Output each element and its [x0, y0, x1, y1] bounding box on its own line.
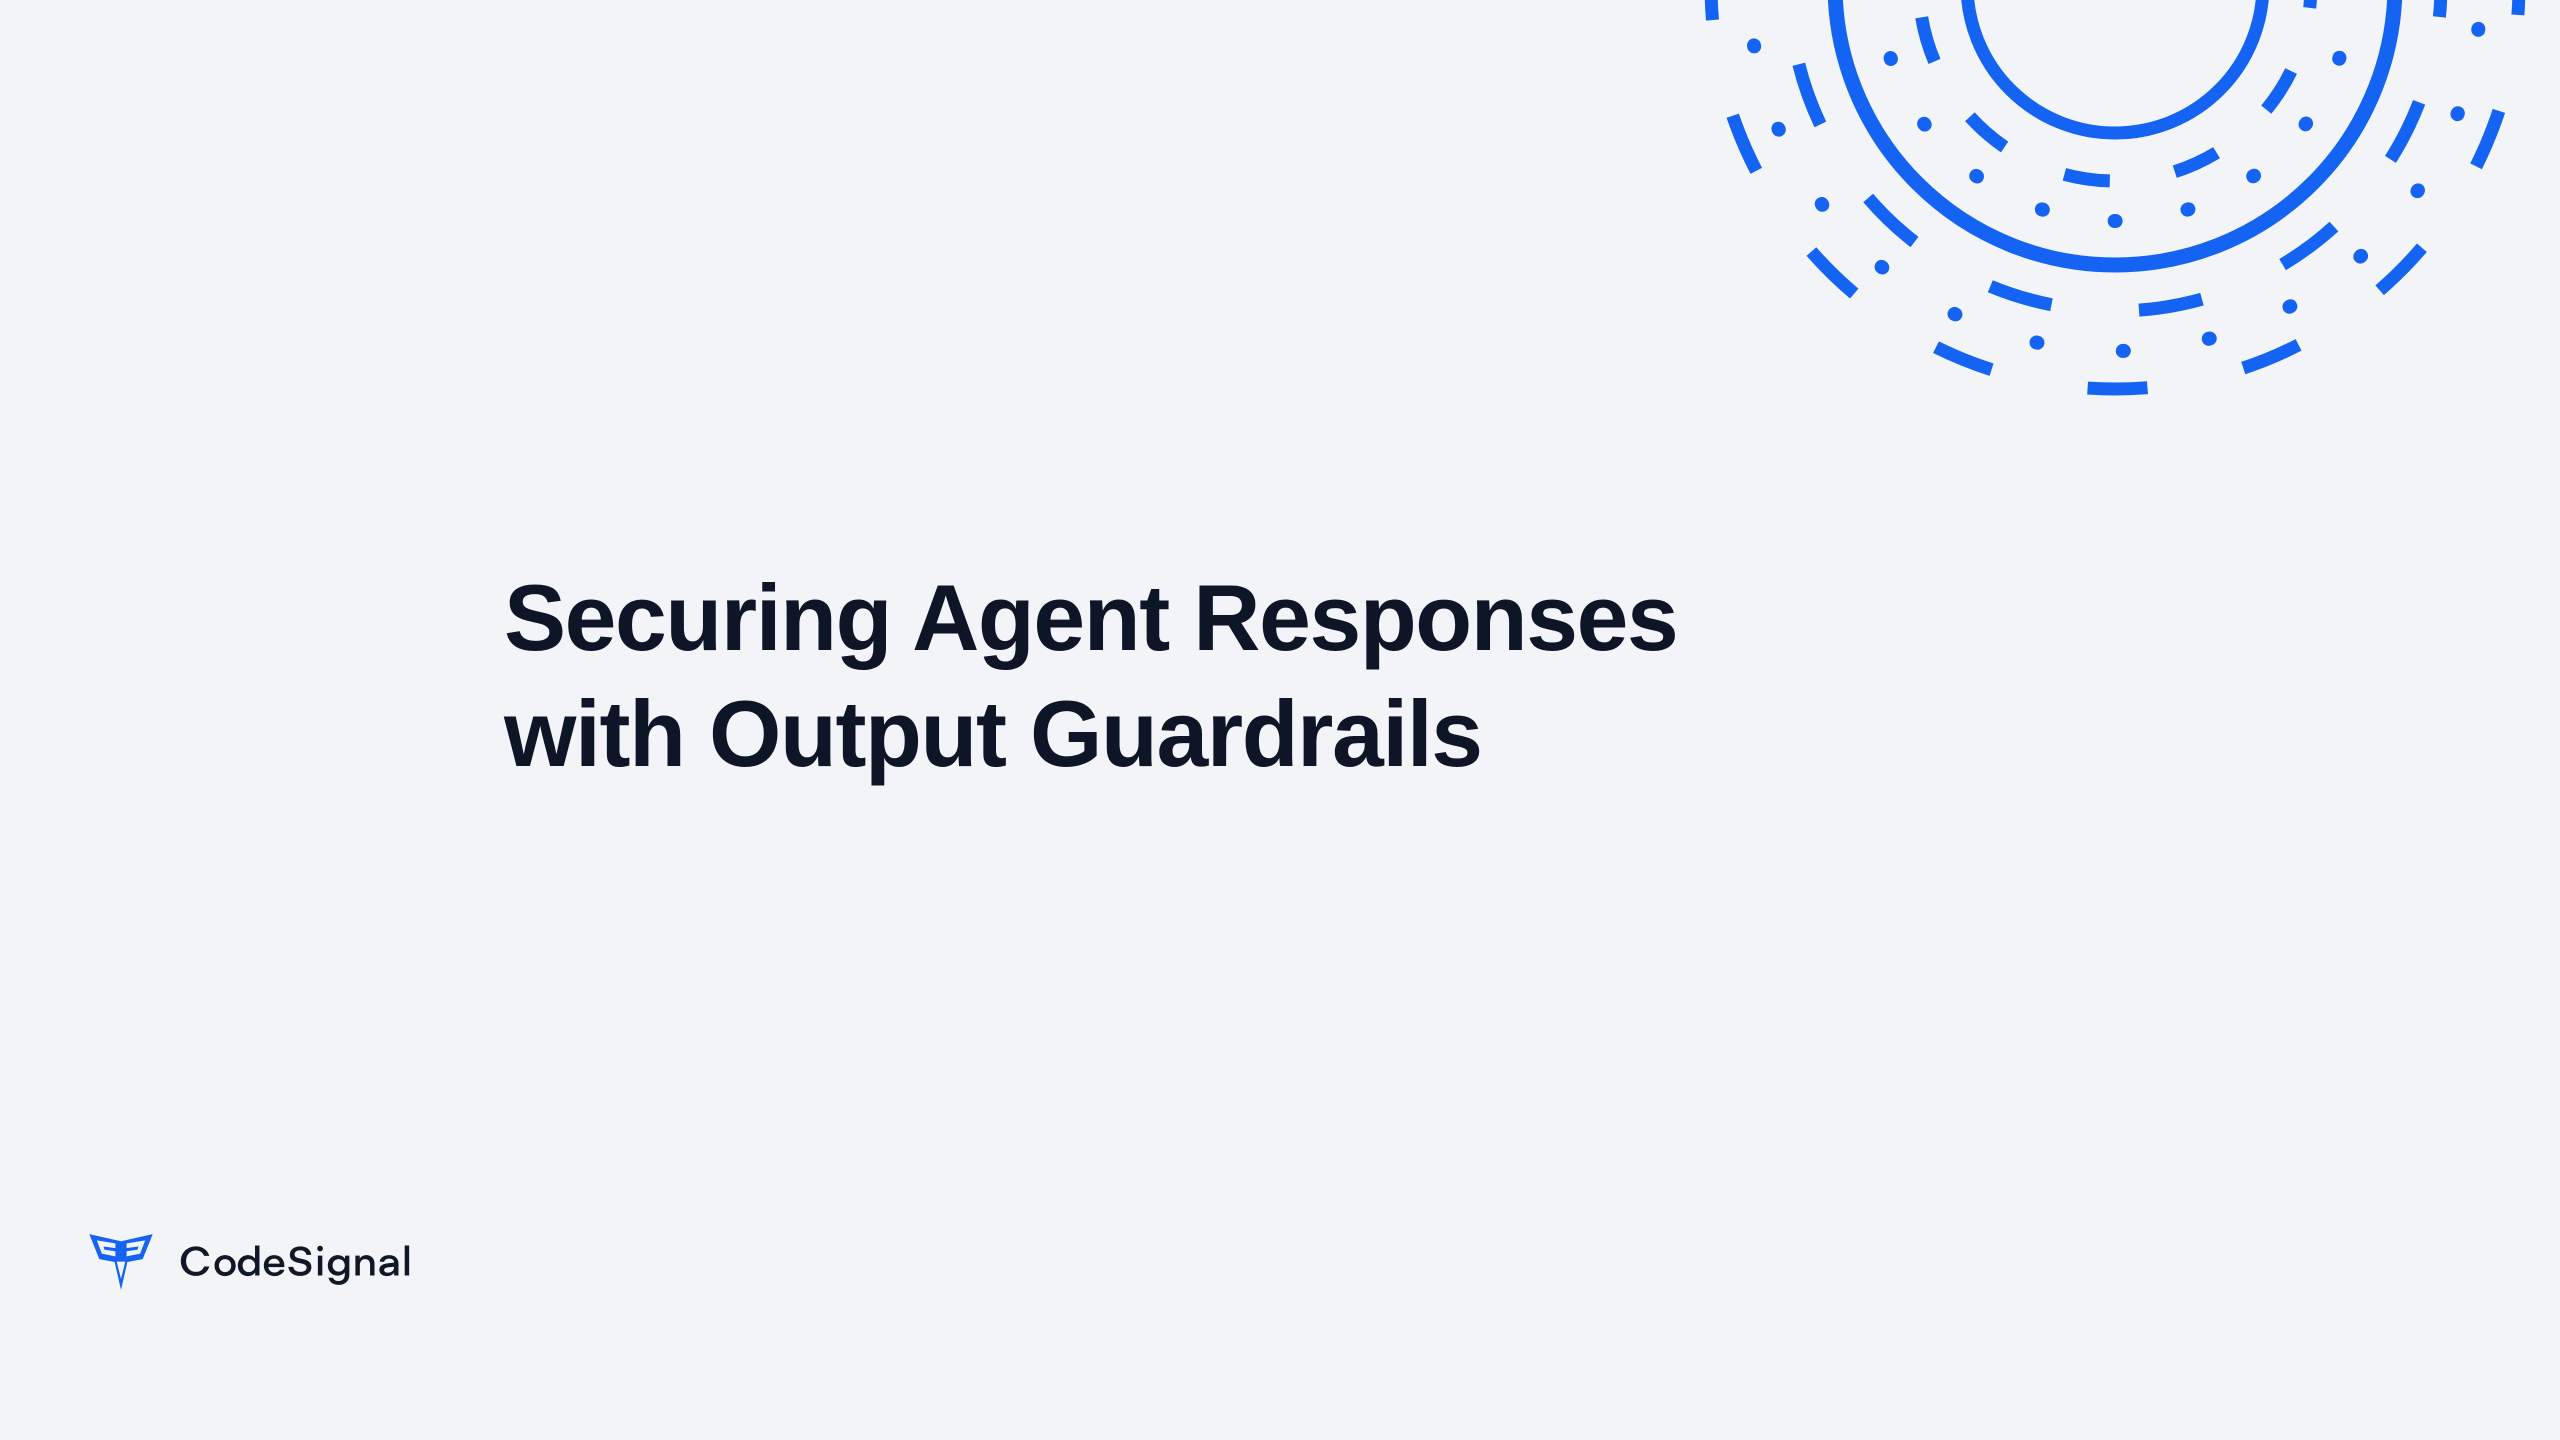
- codesignal-wordmark: [172, 1236, 478, 1288]
- slide-root: Securing Agent Responses with Output Gua…: [0, 0, 2560, 1440]
- ring-dotted-6: [1749, 0, 2481, 351]
- codesignal-logo: [88, 1232, 478, 1292]
- ring-dashed-5: [1789, 0, 2441, 311]
- codesignal-falcon-mark-icon: [88, 1232, 154, 1292]
- ring-dashed-outer: [1711, 0, 2519, 389]
- page-title: Securing Agent Responses with Output Gua…: [504, 560, 2044, 791]
- title-line-2: with Output Guardrails: [504, 676, 2029, 792]
- title-line-1: Securing Agent Responses: [504, 560, 2029, 676]
- ring-solid-main: [1835, 0, 2395, 265]
- concentric-rings-decoration: [1735, 0, 2495, 365]
- ring-solid-inner: [1967, 0, 2263, 133]
- ring-dashed-2: [1919, 0, 2311, 181]
- ring-dotted-3: [1879, 0, 2351, 221]
